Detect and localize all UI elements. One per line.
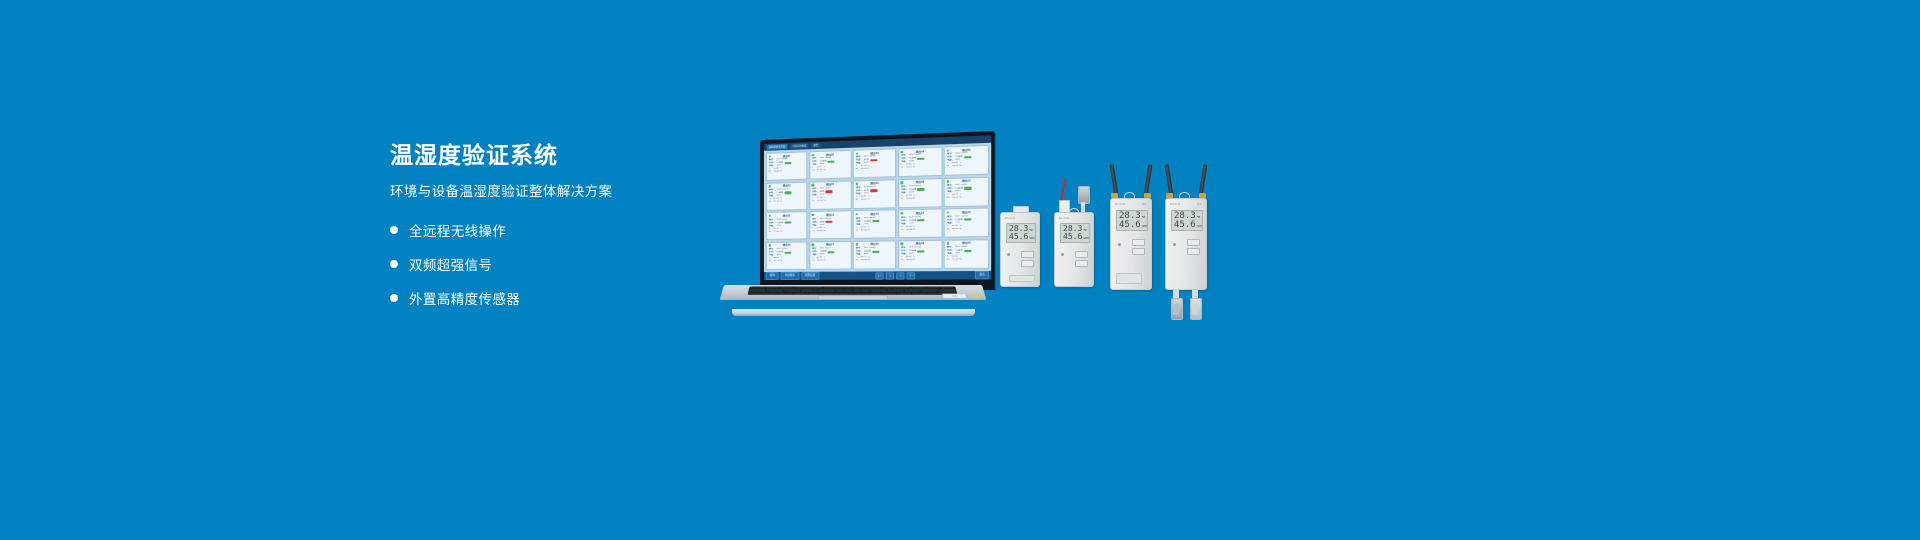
sensor-card[interactable]: 测点16编号：WS-T1016状态：已连接电量：68%T：23.25 ℃H：47… xyxy=(766,241,807,270)
sensor-card-row-value: 47.50 % xyxy=(952,259,961,262)
sensor-card-row-value: 54.60 % xyxy=(817,230,825,233)
sensor-card-row-value: 55.80 % xyxy=(817,200,825,203)
card-status-led-icon xyxy=(946,180,949,183)
device-model-label: H3 xyxy=(1142,202,1146,206)
sensor-card[interactable]: 测点12编号：WS-T1012状态：超限电量：76%T：26.80 ℃H：54.… xyxy=(809,210,851,239)
lcd-temperature-unit: ℃ xyxy=(1197,216,1200,219)
device-button-down[interactable] xyxy=(1021,260,1034,267)
sensor-card-row-key: H： xyxy=(812,200,816,203)
sensor-status-pill xyxy=(828,160,835,163)
keyboard-key[interactable] xyxy=(809,293,896,294)
card-status-led-icon xyxy=(855,243,858,246)
laptop-lid: 温湿度验证系统 当前实时数据 报警 测点01编号：WS-T1001状态：已连接电… xyxy=(760,131,996,290)
sensor-card-row-value: 48.60 % xyxy=(952,165,961,168)
lcd-humidity-unit: %RH xyxy=(1083,237,1088,240)
sensor-status-pill xyxy=(964,249,972,252)
sensor-card-row-value: 52.30 % xyxy=(861,168,870,171)
antenna-right-icon xyxy=(1144,164,1153,196)
sensor-grille-icon xyxy=(1009,275,1035,282)
card-status-led-icon xyxy=(811,214,814,217)
status-led-icon xyxy=(1118,243,1121,246)
lcd-display: 28.3 ℃ 45.6 %RH xyxy=(1116,210,1148,231)
probe-mesh-right xyxy=(1192,304,1198,315)
sensor-status-pill xyxy=(870,159,877,162)
lcd-humidity-value: 45.6 xyxy=(1119,221,1141,230)
sensor-card-row: H：48.20 % xyxy=(769,170,805,174)
sensor-card-row-key: H： xyxy=(769,201,773,204)
sensor-status-pill xyxy=(917,157,924,160)
card-status-led-icon xyxy=(946,242,949,245)
device-body: ENOW 28.3 ℃ 45.6 %RH xyxy=(1000,212,1040,287)
sensor-card-row: H：48.10 % xyxy=(901,259,939,262)
refresh-button[interactable]: 刷新 xyxy=(766,272,779,280)
sensor-card-row-key: H： xyxy=(769,230,773,233)
lcd-humidity-value: 45.6 xyxy=(1174,221,1196,230)
app-toolbar: 刷新 导出报表 报警设置 上一页 1 2 下一页 退出 xyxy=(764,271,991,280)
cpu-sticker: Intel xyxy=(942,294,968,299)
device-brand-label: ENOW xyxy=(1170,202,1181,206)
lcd-display: 28.3 ℃ 45.6 %RH xyxy=(1006,223,1036,243)
keyboard-key[interactable] xyxy=(912,293,927,294)
sensor-card-row-key: H： xyxy=(812,260,816,263)
sensor-card-row: H：49.10 % xyxy=(901,166,939,170)
sensor-card-row-value: 49.80 % xyxy=(861,259,870,262)
device-logger-small-1: ENOW 28.3 ℃ 45.6 %RH xyxy=(1000,212,1040,287)
feature-label: 双频超强信号 xyxy=(409,254,492,274)
sensor-card-row-key: H： xyxy=(901,167,905,170)
pagination-prev[interactable]: 上一页 xyxy=(876,272,884,279)
lcd-temperature-unit: ℃ xyxy=(1142,216,1145,219)
device-button-up[interactable] xyxy=(1187,239,1200,246)
sensor-card-row: H：47.20 % xyxy=(769,230,805,234)
bullet-dot-icon xyxy=(390,294,398,302)
lcd-humidity-unit: %RH xyxy=(1142,225,1147,228)
card-status-led-icon xyxy=(768,185,770,188)
sensor-card-row-key: H： xyxy=(856,229,860,232)
antenna-right-icon xyxy=(1199,164,1208,196)
sensor-status-pill xyxy=(784,251,791,253)
sensor-card-row-value: 49.30 % xyxy=(906,228,915,231)
device-brand-label: ENOW xyxy=(1005,216,1016,220)
keyboard-key[interactable] xyxy=(794,293,809,294)
device-body: ENOW H3 28.3 ℃ 45.6 %RH xyxy=(1110,198,1152,290)
sensor-card-row: H：47.70 % xyxy=(769,260,805,263)
sensor-status-pill xyxy=(828,251,835,254)
sensor-card-row-value: 48.00 % xyxy=(906,197,915,200)
sensor-grille-icon xyxy=(1116,273,1142,284)
sensor-card-row-key: H： xyxy=(901,259,905,262)
sensor-card[interactable]: 测点14编号：WS-T1014状态：已连接电量：72%T：23.50 ℃H：49… xyxy=(898,209,942,239)
sensor-status-pill xyxy=(784,192,791,195)
antenna-left-icon xyxy=(1110,164,1119,196)
sensor-card-row-key: H： xyxy=(947,166,951,169)
sensor-card-row-key: H： xyxy=(947,228,951,231)
lcd-humidity-line: 45.6 %RH xyxy=(1009,233,1033,241)
card-status-led-icon xyxy=(768,155,770,158)
sensor-status-pill xyxy=(917,250,924,253)
lcd-display: 28.3 ℃ 45.6 %RH xyxy=(1060,223,1090,243)
sensor-card[interactable]: 测点10编号：WS-T1010状态：已连接电量：80%T：23.70 ℃H：49… xyxy=(944,176,989,207)
device-logger-wireless-1: ENOW H3 28.3 ℃ 45.6 %RH xyxy=(1110,192,1152,290)
sensor-card-row: H：48.00 % xyxy=(901,197,939,201)
sensor-card-row-value: 47.70 % xyxy=(774,260,782,263)
bullet-dot-icon xyxy=(390,260,398,268)
sensor-card[interactable]: 测点02编号：WS-T1002状态：已连接电量：98%T：23.45 ℃H：47… xyxy=(809,150,851,180)
sensor-card-row: H：47.40 % xyxy=(769,200,805,204)
card-status-led-icon xyxy=(811,244,814,247)
exit-button[interactable]: 退出 xyxy=(975,271,989,280)
pagination-page-2[interactable]: 2 xyxy=(897,272,905,279)
sensor-card-row-value: 47.20 % xyxy=(774,230,782,233)
list-item: 全远程无线操作 xyxy=(390,220,720,240)
sensor-status-pill xyxy=(917,188,924,191)
device-logger-wireless-2: ENOW H3 28.3 ℃ 45.6 %RH xyxy=(1165,192,1207,290)
bullet-dot-icon xyxy=(390,226,398,234)
status-led-icon xyxy=(1007,253,1010,256)
lcd-humidity-line: 45.6 %RH xyxy=(1119,221,1145,230)
laptop-base: Intel xyxy=(718,285,988,325)
tab-realtime-data[interactable]: 当前实时数据 xyxy=(790,143,808,149)
sensor-card-row-value: 48.10 % xyxy=(906,259,915,262)
status-led-icon xyxy=(1173,243,1176,246)
sensor-card[interactable]: 测点19编号：WS-T1019状态：已连接电量：62%T：23.30 ℃H：48… xyxy=(898,240,942,270)
sensor-card[interactable]: 测点01编号：WS-T1001状态：已连接电量：100%T：23.60 ℃H：4… xyxy=(766,151,807,181)
sensor-card-row-value: 53.10 % xyxy=(861,199,870,202)
sensor-card-row: H：48.80 % xyxy=(856,229,893,233)
sensor-card-row-value: 48.40 % xyxy=(952,228,961,231)
lcd-humidity-value: 45.6 xyxy=(1009,233,1028,241)
sensor-card-row: H：47.50 % xyxy=(947,259,986,262)
pagination-page-1[interactable]: 1 xyxy=(886,272,894,279)
sensor-card-row-key: H： xyxy=(769,260,773,263)
sensor-card-row: H：49.50 % xyxy=(947,196,986,200)
page-title: 温湿度验证系统 xyxy=(390,142,720,170)
sensor-status-pill xyxy=(784,162,791,165)
list-item: 双频超强信号 xyxy=(390,254,720,274)
device-body: ENOW 28.3 ℃ 45.6 %RH xyxy=(1054,212,1094,287)
sensor-status-pill xyxy=(870,189,877,192)
sensor-card[interactable]: 测点20编号：WS-T1020状态：已连接电量：60%T：23.85 ℃H：47… xyxy=(944,239,989,269)
sensor-status-pill xyxy=(964,187,972,190)
page-subtitle: 环境与设备温湿度验证整体解决方案 xyxy=(390,184,720,200)
sensor-card-grid: 测点01编号：WS-T1001状态：已连接电量：100%T：23.60 ℃H：4… xyxy=(764,143,991,272)
probe-stem xyxy=(1081,202,1085,212)
sensor-card[interactable]: 测点04编号：WS-T1004状态：已连接电量：92%T：23.80 ℃H：49… xyxy=(898,147,942,178)
sensor-card[interactable]: 测点13编号：WS-T1013状态：已连接电量：74%T：23.15 ℃H：48… xyxy=(853,210,896,240)
list-item: 外置高精度传感器 xyxy=(390,288,720,308)
lcd-humidity-value: 45.6 xyxy=(1063,233,1082,241)
keyboard-key[interactable] xyxy=(749,293,778,294)
device-body: ENOW H3 28.3 ℃ 45.6 %RH xyxy=(1165,198,1207,290)
card-status-led-icon xyxy=(900,151,903,154)
sensor-card-row-key: H： xyxy=(947,259,951,262)
sensor-card-row: H：52.30 % xyxy=(856,167,893,171)
sensor-card[interactable]: 测点09编号：WS-T1009状态：已连接电量：82%T：23.90 ℃H：48… xyxy=(898,178,942,208)
device-button-up[interactable] xyxy=(1075,251,1088,258)
lcd-humidity-unit: %RH xyxy=(1029,237,1034,240)
lcd-display: 28.3 ℃ 45.6 %RH xyxy=(1171,210,1203,231)
sensor-card-row: H：48.60 % xyxy=(947,165,986,169)
device-button-down[interactable] xyxy=(1075,260,1088,267)
card-status-led-icon xyxy=(946,149,949,152)
card-status-led-icon xyxy=(900,243,903,246)
sensor-card[interactable]: 测点03编号：WS-T1003状态：超限电量：95%T：26.10 ℃H：52.… xyxy=(853,148,896,178)
sensor-card[interactable]: 测点18编号：WS-T1018状态：已连接电量：64%T：23.75 ℃H：49… xyxy=(853,240,896,269)
sensor-card-row: H：55.80 % xyxy=(812,199,848,203)
sensor-card-row-value: 48.80 % xyxy=(861,229,870,232)
sensor-card-row-key: H： xyxy=(856,168,860,171)
lcd-temperature-unit: ℃ xyxy=(1083,229,1086,232)
tab-monitoring[interactable]: 温湿度验证系统 xyxy=(767,144,787,150)
keyboard-key[interactable] xyxy=(897,293,912,294)
laptop-front-edge xyxy=(732,309,975,316)
sensor-card-row: H：54.60 % xyxy=(812,229,848,233)
sensor-card[interactable]: 测点15编号：WS-T1015状态：已连接电量：70%T：23.65 ℃H：48… xyxy=(944,208,989,238)
trackpad[interactable] xyxy=(818,295,888,299)
feature-label: 外置高精度传感器 xyxy=(409,288,520,308)
sensor-card-row: H：47.90 % xyxy=(812,169,848,173)
sensor-card[interactable]: 测点07编号：WS-T1007状态：超限电量：86%T：27.05 ℃H：55.… xyxy=(809,180,851,210)
sensor-card-row: H：48.90 % xyxy=(812,260,848,263)
device-logger-small-2: ENOW 28.3 ℃ 45.6 %RH xyxy=(1054,212,1094,287)
sensor-card-row-key: H： xyxy=(812,230,816,233)
laptop-product-image: 温湿度验证系统 当前实时数据 报警 测点01编号：WS-T1001状态：已连接电… xyxy=(718,140,988,300)
device-button-down[interactable] xyxy=(1187,248,1200,255)
sensor-card-row-key: H： xyxy=(769,171,773,174)
sensor-status-pill xyxy=(964,156,972,159)
probe-mesh-left xyxy=(1173,304,1179,315)
pagination-next[interactable]: 下一页 xyxy=(907,272,915,279)
card-status-led-icon xyxy=(811,184,814,187)
card-status-led-icon xyxy=(855,152,858,155)
secondary-sticker xyxy=(969,294,981,297)
sensor-card-row-key: H： xyxy=(856,199,860,202)
sensor-card[interactable]: 测点08编号：WS-T1008状态：超限电量：84%T：26.40 ℃H：53.… xyxy=(853,179,896,209)
sensor-status-pill xyxy=(872,250,879,253)
tab-alarm[interactable]: 报警 xyxy=(811,143,820,148)
banner-text-block: 温湿度验证系统 环境与设备温湿度验证整体解决方案 全远程无线操作 双频超强信号 … xyxy=(390,142,720,322)
sensor-card[interactable]: 测点05编号：WS-T1005状态：已连接电量：90%T：23.55 ℃H：48… xyxy=(944,145,989,176)
feature-list: 全远程无线操作 双频超强信号 外置高精度传感器 xyxy=(390,220,720,308)
sensor-card[interactable]: 测点17编号：WS-T1017状态：已连接电量：66%T：23.40 ℃H：48… xyxy=(809,241,851,270)
lcd-humidity-unit: %RH xyxy=(1197,225,1202,228)
sensor-card-row-key: H： xyxy=(947,197,951,200)
sensor-card-row: H：49.80 % xyxy=(856,259,893,262)
alarm-settings-button[interactable]: 报警设置 xyxy=(801,272,819,280)
card-status-led-icon xyxy=(811,154,814,157)
sensor-card-row-value: 48.90 % xyxy=(817,260,825,263)
sensor-card-row-value: 47.40 % xyxy=(774,201,782,204)
laptop-screen: 温湿度验证系统 当前实时数据 报警 测点01编号：WS-T1001状态：已连接电… xyxy=(764,135,991,280)
sensor-card-row-value: 48.20 % xyxy=(774,171,782,174)
product-banner: 温湿度验证系统 环境与设备温湿度验证整体解决方案 全远程无线操作 双频超强信号 … xyxy=(0,0,1920,540)
antenna-left-icon xyxy=(1165,164,1174,196)
sensor-card-row-key: H： xyxy=(901,228,905,231)
sensor-card-row-key: H： xyxy=(856,260,860,263)
device-model-label: H3 xyxy=(1197,202,1201,206)
lcd-humidity-line: 45.6 %RH xyxy=(1174,221,1200,230)
card-status-led-icon xyxy=(900,181,903,184)
export-report-button[interactable]: 导出报表 xyxy=(781,272,799,280)
sensor-card-row-key: H： xyxy=(812,170,816,173)
feature-label: 全远程无线操作 xyxy=(409,220,506,240)
keyboard-row xyxy=(749,293,956,294)
device-brand-label: ENOW xyxy=(1059,216,1070,220)
sensor-card-row-value: 49.10 % xyxy=(906,167,915,170)
device-button-up[interactable] xyxy=(1132,239,1145,246)
lcd-temperature-unit: ℃ xyxy=(1029,229,1032,232)
keyboard[interactable] xyxy=(748,287,958,295)
status-led-icon xyxy=(1061,253,1064,256)
sensor-card-row: H：49.30 % xyxy=(901,228,939,232)
device-button-down[interactable] xyxy=(1132,248,1145,255)
laptop-deck: Intel xyxy=(720,285,987,300)
sensor-card[interactable]: 测点06编号：WS-T1006状态：已连接电量：88%T：23.20 ℃H：47… xyxy=(766,181,807,210)
sensor-card-row: H：48.40 % xyxy=(947,227,986,231)
device-group: ENOW 28.3 ℃ 45.6 %RH xyxy=(1000,180,1220,310)
sensor-card-row: H：53.10 % xyxy=(856,198,893,202)
sensor-card-row-value: 47.90 % xyxy=(817,169,825,172)
lcd-humidity-line: 45.6 %RH xyxy=(1063,233,1087,241)
device-button-up[interactable] xyxy=(1021,251,1034,258)
sensor-card-row-key: H： xyxy=(901,198,905,201)
sensor-status-pill xyxy=(825,191,832,194)
device-brand-label: ENOW xyxy=(1115,202,1126,206)
card-status-led-icon xyxy=(768,244,770,247)
card-status-led-icon xyxy=(855,182,858,185)
keyboard-key[interactable] xyxy=(779,293,794,294)
sensor-card-row-value: 49.50 % xyxy=(952,196,961,199)
card-status-led-icon xyxy=(900,212,903,215)
sensor-card[interactable]: 测点11编号：WS-T1011状态：已连接电量：78%T：23.35 ℃H：47… xyxy=(766,211,807,240)
